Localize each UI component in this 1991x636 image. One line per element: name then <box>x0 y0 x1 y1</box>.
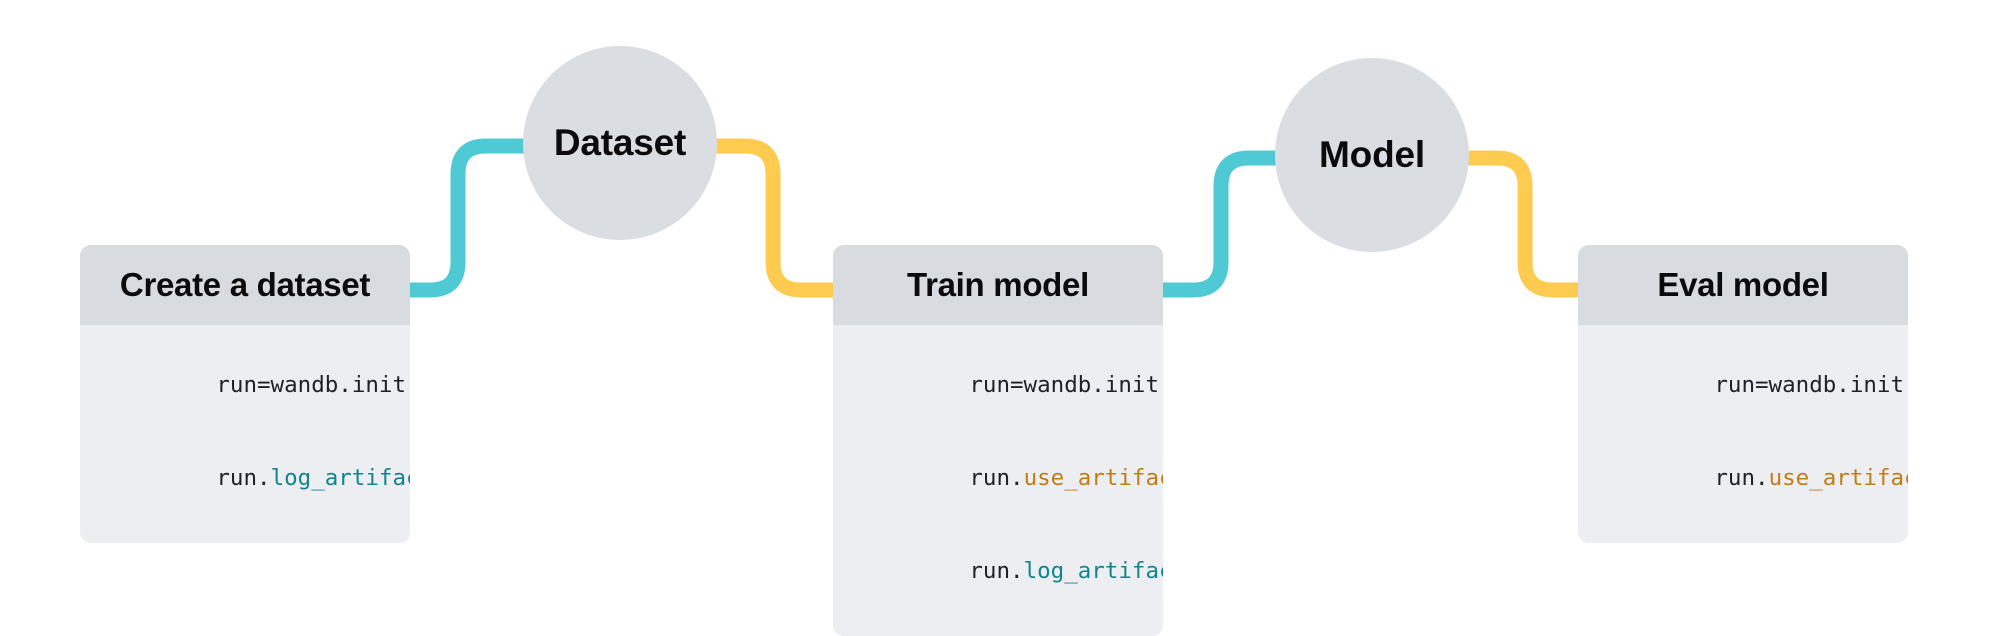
code-token-log-artifact: log_artifact() <box>271 465 410 491</box>
code-token: run=wandb.init() <box>216 372 410 398</box>
step-card-title: Create a dataset <box>120 266 370 304</box>
code-token-use-artifact: use_artifact() <box>1024 465 1163 491</box>
code-line: run=wandb.init() <box>108 339 410 432</box>
step-card-title: Eval model <box>1657 266 1828 304</box>
code-line: run=wandb.init() <box>861 339 1163 432</box>
connector-dataset-to-train-model <box>713 146 833 290</box>
code-line: run.use_artifact() <box>861 432 1163 525</box>
step-card-code-block: run=wandb.init() run.log_artifact() <box>80 325 410 543</box>
step-card-title: Train model <box>907 266 1089 304</box>
step-card-code-block: run=wandb.init() run.use_artifact() <box>1578 325 1908 543</box>
code-line: run=wandb.init() <box>1606 339 1908 432</box>
code-token: run. <box>216 465 270 491</box>
code-line: run.log_artifact() <box>108 432 410 525</box>
code-token-log-artifact: log_artifact() <box>1024 558 1163 584</box>
code-line: run.log_artifact() <box>861 525 1163 618</box>
step-card-eval-model[interactable]: Eval model run=wandb.init() run.use_arti… <box>1578 245 1908 543</box>
connector-create-dataset-to-dataset <box>400 146 527 290</box>
code-token: run=wandb.init() <box>1714 372 1908 398</box>
artifact-node-dataset[interactable]: Dataset <box>523 46 717 240</box>
step-card-code-block: run=wandb.init() run.use_artifact() run.… <box>833 325 1163 636</box>
code-token-use-artifact: use_artifact() <box>1769 465 1908 491</box>
connector-train-model-to-model <box>1163 158 1280 290</box>
artifacts-pipeline-diagram: Dataset Model Create a dataset run=wandb… <box>0 0 1991 503</box>
artifact-node-model[interactable]: Model <box>1275 58 1469 252</box>
code-token: run. <box>969 558 1023 584</box>
artifact-label-model: Model <box>1319 134 1425 176</box>
step-card-create-a-dataset[interactable]: Create a dataset run=wandb.init() run.lo… <box>80 245 410 543</box>
step-card-header: Train model <box>833 245 1163 325</box>
step-card-train-model[interactable]: Train model run=wandb.init() run.use_art… <box>833 245 1163 636</box>
code-token: run. <box>1714 465 1768 491</box>
step-card-header: Create a dataset <box>80 245 410 325</box>
code-token: run. <box>969 465 1023 491</box>
connector-model-to-eval-model <box>1465 158 1578 290</box>
code-line: run.use_artifact() <box>1606 432 1908 525</box>
artifact-label-dataset: Dataset <box>554 122 686 164</box>
code-token: run=wandb.init() <box>969 372 1163 398</box>
step-card-header: Eval model <box>1578 245 1908 325</box>
